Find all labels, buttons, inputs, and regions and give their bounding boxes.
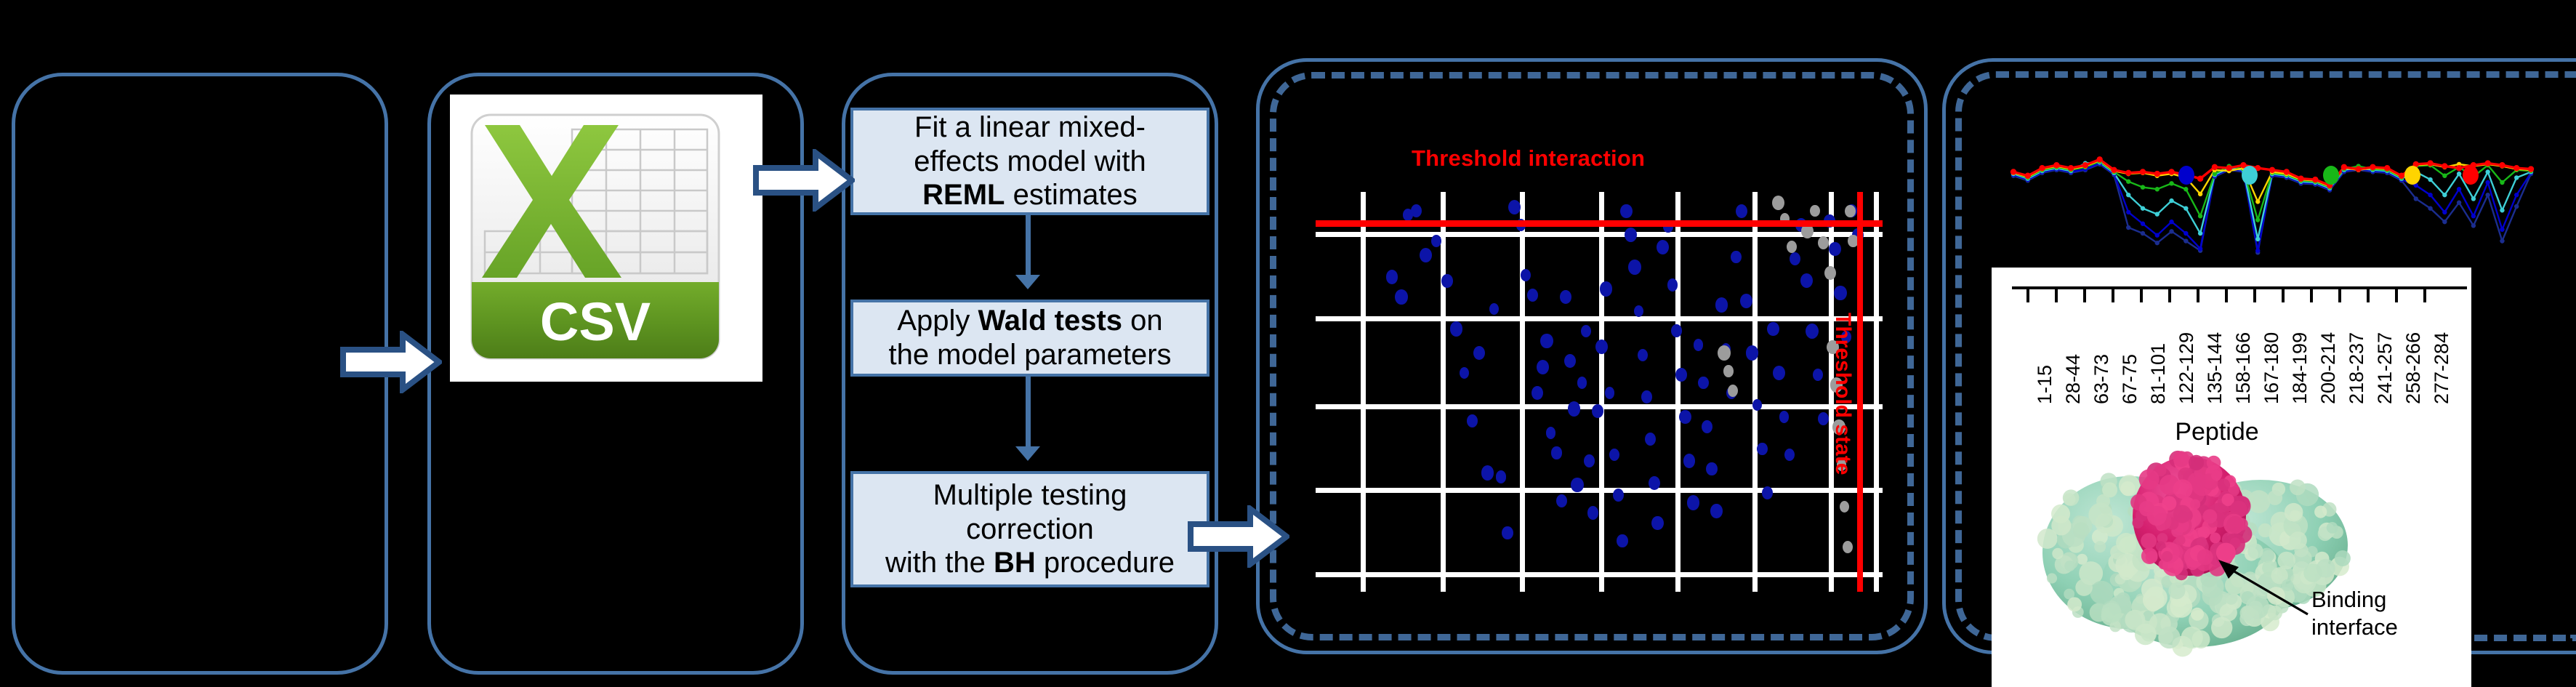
x-axis-tick-label: 184-199 xyxy=(2289,332,2311,404)
line-marker xyxy=(2141,222,2145,226)
scatter-point xyxy=(1649,476,1660,490)
binding-interface-bump xyxy=(2211,470,2221,481)
gridline-vertical xyxy=(1520,192,1525,592)
gridline-vertical xyxy=(1361,192,1366,592)
line-marker xyxy=(2457,201,2461,205)
scatter-point xyxy=(1508,200,1521,214)
x-axis-tick xyxy=(2423,286,2426,302)
gridline-horizontal xyxy=(1316,232,1883,237)
scatter-point xyxy=(1577,377,1587,389)
line-marker xyxy=(2255,249,2260,253)
x-axis-tick xyxy=(2197,286,2199,302)
scatter-point xyxy=(1813,369,1823,381)
legend-dot-3 xyxy=(2323,166,2339,185)
line-marker xyxy=(2082,162,2088,168)
scatter-point xyxy=(1698,377,1708,389)
binding-interface-bump xyxy=(2173,505,2191,523)
scatter-point xyxy=(1706,462,1718,476)
protein-surface-bump xyxy=(2191,608,2204,621)
protein-surface-bump xyxy=(2067,597,2082,611)
line-marker xyxy=(2169,229,2173,233)
x-axis-tick-label: 28-44 xyxy=(2062,354,2085,404)
gridline-horizontal xyxy=(1316,572,1883,577)
line-marker xyxy=(2442,163,2447,169)
binding-interface-bump xyxy=(2226,516,2244,534)
protein-surface-bump xyxy=(2135,624,2156,645)
scatter-point xyxy=(1581,325,1591,337)
protein-surface-bump xyxy=(2225,592,2238,605)
line-marker xyxy=(2414,196,2418,201)
protein-surface-bump xyxy=(2090,581,2113,604)
line-marker xyxy=(2514,204,2519,209)
scatter-point xyxy=(1757,443,1767,455)
scatter-point xyxy=(1824,266,1836,280)
gridline-vertical xyxy=(1675,192,1681,592)
x-axis-tick xyxy=(2282,286,2285,302)
scatter-point xyxy=(1762,486,1773,499)
scatter-point xyxy=(1638,349,1648,361)
line-marker xyxy=(2255,199,2260,204)
line-marker xyxy=(2198,192,2202,196)
scatter-point xyxy=(1657,240,1669,254)
x-axis-tick-label: 200-214 xyxy=(2317,332,2340,404)
protein-surface-bump xyxy=(2225,576,2244,595)
line-marker xyxy=(2484,160,2490,166)
x-axis-tick-label: 158-166 xyxy=(2232,332,2255,404)
scatter-point xyxy=(1634,305,1643,317)
line-marker xyxy=(2427,160,2433,166)
scatter-point xyxy=(1772,196,1784,210)
protein-surface-bump xyxy=(2168,582,2185,599)
line-marker xyxy=(2457,172,2461,176)
x-axis-tick-label: 167-180 xyxy=(2261,332,2283,404)
line-marker xyxy=(2312,177,2318,182)
protein-surface-bump xyxy=(2145,596,2161,612)
protein-surface-bump xyxy=(2096,494,2110,508)
x-axis-tick xyxy=(2338,286,2341,302)
line-marker xyxy=(2355,166,2361,172)
protein-surface-bump xyxy=(2277,552,2295,570)
line-marker xyxy=(2456,165,2462,171)
x-axis-tick-label: 81-101 xyxy=(2147,343,2170,404)
scatter-point xyxy=(1617,534,1627,547)
binding-interface-bump xyxy=(2173,451,2189,467)
line-marker xyxy=(2140,169,2146,174)
scatter-point xyxy=(1537,360,1549,374)
protein-surface-bump xyxy=(2117,592,2130,606)
line-marker xyxy=(2457,187,2461,191)
line-marker xyxy=(2183,206,2188,210)
gridline-horizontal xyxy=(1316,316,1883,321)
gridline-vertical xyxy=(1752,192,1758,592)
scatter-point xyxy=(1641,390,1652,403)
x-axis-tick xyxy=(2140,286,2143,302)
binding-interface-bump xyxy=(2139,469,2160,489)
scatter-point xyxy=(1723,365,1734,377)
line-marker xyxy=(2169,181,2173,185)
binding-interface-bump xyxy=(2141,533,2157,549)
scatter-point xyxy=(1679,410,1691,424)
scatter-point xyxy=(1752,399,1763,411)
scatter-point xyxy=(1651,516,1663,530)
line-marker xyxy=(2370,164,2375,170)
scatter-point xyxy=(1481,465,1494,480)
line-marker xyxy=(2198,246,2202,251)
legend-dot-1 xyxy=(2178,166,2194,185)
legend-dot-5 xyxy=(2463,166,2479,185)
binding-interface-bump xyxy=(2162,496,2176,510)
scatter-point xyxy=(1613,489,1624,502)
protein-surface-bump xyxy=(2290,480,2306,496)
line-marker xyxy=(2141,231,2145,236)
line-marker xyxy=(2485,193,2490,197)
protein-surface-bump xyxy=(2101,603,2122,623)
line-marker xyxy=(2284,169,2290,174)
protein-surface-bump xyxy=(2268,606,2282,620)
gridline-horizontal xyxy=(1316,488,1883,493)
protein-surface-bump xyxy=(2211,617,2232,638)
panel-input xyxy=(12,73,388,675)
binding-interface-bump xyxy=(2175,535,2186,545)
protein-surface-bump xyxy=(2285,503,2303,522)
fit-model-box: Fit a linear mixed-effects model withREM… xyxy=(850,108,1209,215)
scatter-point xyxy=(1628,260,1641,275)
scatter-point xyxy=(1609,449,1619,461)
x-axis-tick xyxy=(2112,286,2114,302)
fit-model-box-text: Fit a linear mixed-effects model withREM… xyxy=(914,111,1146,212)
scatter-point xyxy=(1834,286,1847,301)
connector-1 xyxy=(1026,215,1031,278)
scatter-point xyxy=(1800,273,1813,288)
line-marker xyxy=(2125,170,2131,176)
line-marker xyxy=(2399,173,2404,179)
line-marker xyxy=(2514,193,2519,197)
multiple-testing-box-text: Multiple testingcorrectionwith the BH pr… xyxy=(885,478,1175,580)
x-axis-tick xyxy=(2395,286,2398,302)
x-axis-tick xyxy=(2310,286,2313,302)
line-marker xyxy=(2068,165,2074,171)
x-axis-tick xyxy=(2253,286,2256,302)
binding-interface-bump xyxy=(2141,547,2158,564)
scatter-title: Threshold interaction xyxy=(1412,145,1645,172)
line-marker xyxy=(2169,198,2173,203)
threshold-state-label: Threshold state xyxy=(1830,313,1855,475)
line-marker xyxy=(2126,179,2130,183)
protein-surface-bump xyxy=(2170,595,2192,618)
scatter-point xyxy=(1584,454,1595,467)
line-marker xyxy=(2039,165,2045,171)
x-axis-tick xyxy=(2367,286,2370,302)
line-marker xyxy=(2141,185,2145,189)
line-marker xyxy=(2155,241,2160,245)
scatter-point xyxy=(1551,446,1561,459)
line-marker xyxy=(2500,238,2504,243)
scatter-point xyxy=(1675,368,1687,382)
binding-interface-bump xyxy=(2162,551,2173,562)
scatter-point xyxy=(1521,269,1531,281)
scatter-point xyxy=(1667,278,1678,291)
x-axis-tick-label: 1-15 xyxy=(2034,365,2056,404)
x-axis-tick xyxy=(2168,286,2171,302)
line-marker xyxy=(2212,164,2218,170)
x-axis-tick xyxy=(2083,286,2086,302)
arrow-into-input xyxy=(340,331,442,393)
connector-1-arrowhead xyxy=(1015,275,1040,289)
line-marker xyxy=(2154,171,2160,177)
line-marker xyxy=(2485,169,2490,174)
line-marker xyxy=(2442,210,2447,214)
protein-surface-bump xyxy=(2075,579,2093,596)
scatter-point xyxy=(1625,228,1637,242)
connector-2 xyxy=(1026,377,1031,449)
binding-interface-bump xyxy=(2147,506,2167,526)
scatter-point xyxy=(1527,289,1538,302)
scatter-point xyxy=(1386,270,1398,284)
scatter-point xyxy=(1546,427,1555,438)
line-marker xyxy=(2255,237,2260,241)
protein-surface-bump xyxy=(2064,493,2076,505)
scatter-point xyxy=(1731,251,1742,264)
scatter-point xyxy=(1773,366,1785,380)
scatter-point xyxy=(1702,420,1712,433)
protein-surface-bump xyxy=(2051,516,2071,536)
pipeline-diagram: CSV Fit a linear mixed-effects model wit… xyxy=(0,0,2576,687)
x-axis-tick-label: 277-284 xyxy=(2431,332,2453,404)
protein-surface-bump xyxy=(2181,627,2203,648)
line-marker xyxy=(2528,166,2534,172)
protein-surface-bump xyxy=(2282,579,2293,591)
scatter-point xyxy=(1784,449,1795,461)
line-marker xyxy=(2226,165,2231,171)
scatter-point xyxy=(1600,281,1613,297)
line-marker xyxy=(2126,225,2130,230)
x-axis-tick xyxy=(2026,286,2029,302)
scatter-point xyxy=(1420,248,1432,262)
line-marker xyxy=(2514,175,2519,180)
scatter-point xyxy=(1710,504,1723,518)
line-marker xyxy=(2011,169,2016,174)
scatter-point xyxy=(1806,324,1819,339)
scatter-point xyxy=(1411,204,1422,217)
protein-surface-bump xyxy=(2064,561,2075,571)
scatter-point xyxy=(1810,205,1819,217)
line-marker xyxy=(2471,196,2476,201)
binding-interface-bump xyxy=(2197,549,2213,565)
scatter-point xyxy=(1568,401,1580,416)
scatter-point xyxy=(1489,303,1500,316)
line-marker xyxy=(2298,176,2303,182)
scatter-point xyxy=(1779,411,1789,422)
threshold-scatter-figure: Threshold interaction Threshold state xyxy=(1301,145,1890,611)
line-marker xyxy=(2155,187,2160,191)
protein-surface-bump xyxy=(2247,543,2263,558)
line-marker xyxy=(2096,156,2102,162)
x-axis-tick-label: 135-144 xyxy=(2204,332,2226,404)
line-marker xyxy=(2269,167,2275,173)
line-marker xyxy=(2471,223,2476,228)
scatter-point xyxy=(1787,241,1797,253)
line-marker xyxy=(2500,180,2504,185)
line-marker xyxy=(2025,173,2031,179)
binding-interface-bump xyxy=(2203,509,2218,523)
binding-interface-bump xyxy=(2190,499,2200,510)
line-marker xyxy=(2471,214,2476,218)
line-marker xyxy=(2500,208,2504,212)
binding-interface-bump xyxy=(2216,543,2236,563)
binding-interface-label-line1: Binding xyxy=(2311,587,2386,613)
line-marker xyxy=(2169,220,2173,224)
binding-interface-bump xyxy=(2189,455,2204,470)
line-marker xyxy=(2183,231,2188,236)
binding-interface-label-line2: interface xyxy=(2311,615,2398,640)
x-axis-tick xyxy=(2055,286,2058,302)
scatter-point xyxy=(1540,334,1553,349)
scatter-point xyxy=(1843,541,1853,553)
line-marker xyxy=(2428,177,2432,182)
peptide-x-axis: 1-1528-4463-7367-7581-101122-129135-1441… xyxy=(1992,268,2471,413)
multiple-testing-box: Multiple testingcorrectionwith the BH pr… xyxy=(850,471,1209,587)
line-marker xyxy=(2384,165,2390,171)
scatter-point xyxy=(1556,494,1567,507)
protein-surface-bump xyxy=(2158,627,2180,648)
line-marker xyxy=(2485,180,2490,185)
protein-surface-bump xyxy=(2314,506,2327,518)
scatter-point xyxy=(1715,297,1728,312)
x-axis-tick-label: 122-129 xyxy=(2175,332,2198,404)
scatter-point xyxy=(1687,495,1700,510)
line-marker xyxy=(2111,167,2117,173)
threshold-state-line xyxy=(1857,192,1863,592)
gridline-vertical xyxy=(1599,192,1604,592)
line-marker xyxy=(2126,193,2130,197)
gridline-vertical xyxy=(1441,192,1446,592)
scatter-point xyxy=(1467,414,1478,427)
protein-surface-bump xyxy=(2047,573,2057,583)
line-marker xyxy=(2053,162,2059,168)
scatter-point xyxy=(1564,354,1577,369)
line-marker xyxy=(2168,169,2174,174)
protein-surface-bump xyxy=(2335,550,2351,566)
scatter-point xyxy=(1431,235,1441,247)
line-marker xyxy=(2155,233,2160,237)
line-marker xyxy=(2513,165,2519,171)
csv-file-icon: CSV xyxy=(450,95,762,382)
scatter-point xyxy=(1728,385,1738,397)
threshold-interaction-line xyxy=(1316,220,1883,227)
arrow-data-to-model xyxy=(1188,505,1289,568)
line-marker xyxy=(2183,187,2188,191)
scatter-point xyxy=(1740,294,1752,308)
scatter-point xyxy=(1683,454,1696,468)
scatter-plot-area xyxy=(1316,192,1883,592)
line-marker xyxy=(2155,212,2160,216)
protein-surface-bump xyxy=(2258,523,2272,537)
peptide-line-chart xyxy=(2000,145,2538,262)
scatter-point xyxy=(1502,526,1513,540)
scatter-point xyxy=(1450,321,1462,336)
protein-surface-bump xyxy=(2120,481,2135,496)
line-marker xyxy=(2442,193,2447,197)
connector-2-arrowhead xyxy=(1015,446,1040,461)
protein-surface-bump xyxy=(2317,559,2335,578)
protein-surface-bump xyxy=(2240,606,2255,621)
scatter-point xyxy=(1595,340,1608,354)
line-marker xyxy=(2255,217,2260,222)
binding-interface-bump xyxy=(2210,533,2221,544)
scatter-point xyxy=(1460,367,1469,379)
scatter-point xyxy=(1736,204,1747,218)
binding-interface-bump xyxy=(2218,478,2230,491)
binding-interface-bump xyxy=(2230,487,2239,496)
line-marker xyxy=(2183,238,2188,243)
line-marker xyxy=(2428,206,2432,210)
scatter-point xyxy=(1531,386,1543,400)
line-marker xyxy=(2442,174,2447,178)
gridline-vertical xyxy=(1874,192,1879,592)
scatter-point xyxy=(1718,345,1731,361)
x-axis-tick-label: 258-266 xyxy=(2402,332,2425,404)
x-axis-tick-label: 241-257 xyxy=(2374,332,2396,404)
line-marker xyxy=(2198,231,2202,236)
x-axis-rule xyxy=(2012,286,2467,289)
scatter-point xyxy=(1473,346,1485,360)
protein-surface-bump xyxy=(2116,533,2136,553)
scatter-point xyxy=(1767,322,1779,336)
line-marker xyxy=(2500,227,2504,231)
scatter-point xyxy=(1790,252,1800,265)
scatter-point xyxy=(1818,412,1829,425)
legend-dot-2 xyxy=(2242,166,2258,185)
line-marker xyxy=(2197,176,2203,182)
legend-dot-4 xyxy=(2404,166,2420,185)
protein-surface-bump xyxy=(2052,548,2063,559)
wald-tests-box-text: Apply Wald tests onthe model parameters xyxy=(888,304,1171,372)
scatter-point xyxy=(1845,205,1855,217)
scatter-point xyxy=(1620,204,1632,218)
scatter-point xyxy=(1840,501,1850,513)
line-marker xyxy=(2126,210,2130,214)
protein-surface-bump xyxy=(2094,541,2106,553)
scatter-point xyxy=(1829,242,1841,257)
wald-tests-box: Apply Wald tests onthe model parameters xyxy=(850,300,1209,377)
protein-surface-bump xyxy=(2073,522,2089,538)
x-axis-tick-label: 67-75 xyxy=(2119,354,2141,404)
line-marker xyxy=(2141,206,2145,210)
scatter-point xyxy=(1746,345,1759,361)
scatter-point xyxy=(1694,339,1703,350)
scatter-point xyxy=(1560,290,1571,304)
protein-surface-bump xyxy=(2290,531,2307,549)
scatter-point xyxy=(1441,274,1453,288)
scatter-point xyxy=(1605,387,1614,398)
scatter-point xyxy=(1592,404,1603,418)
x-axis-tick xyxy=(2225,286,2228,302)
scatter-point xyxy=(1395,289,1408,305)
line-marker xyxy=(2198,214,2202,218)
binding-interface-bump xyxy=(2173,479,2193,499)
scatter-point xyxy=(1496,470,1507,483)
line-marker xyxy=(2499,162,2505,168)
arrow-input-to-data xyxy=(753,149,855,212)
line-marker xyxy=(2341,164,2347,170)
x-axis-tick-label: 218-237 xyxy=(2346,332,2368,404)
scatter-point xyxy=(1587,506,1598,519)
scatter-point xyxy=(1818,236,1829,249)
svg-text:CSV: CSV xyxy=(540,292,651,352)
line-marker xyxy=(2442,220,2447,224)
scatter-point xyxy=(1645,433,1656,446)
line-marker xyxy=(2428,193,2432,197)
